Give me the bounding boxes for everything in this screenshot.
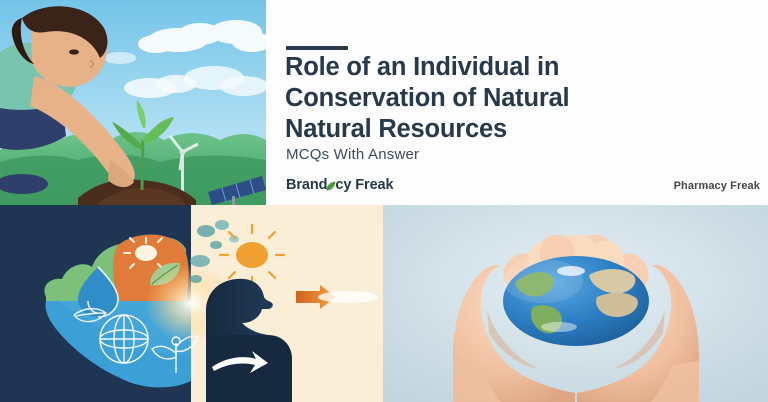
page-subtitle: MCQs With Answer: [286, 146, 419, 163]
cloud-band-bottom: [541, 322, 577, 332]
earth-globe: [503, 256, 649, 346]
accent-rule: [286, 46, 348, 50]
person-planting-sapling-illustration: [0, 0, 266, 205]
globe-icon: [100, 315, 148, 363]
person-eye: [69, 49, 79, 54]
poster-root: Role of an Individual in Conservation of…: [0, 0, 768, 402]
page-title: Role of an Individual in Conservation of…: [285, 52, 755, 145]
hands-canvas: [383, 205, 768, 402]
bottom-row: [0, 205, 768, 402]
globe-specular: [503, 259, 583, 303]
title-block: Role of an Individual in Conservation of…: [266, 0, 768, 205]
hands-holding-earth-photo: [383, 205, 768, 402]
illustration-canvas: [0, 0, 266, 205]
flare: [318, 291, 378, 303]
brand-logo: Brand cy Freak: [286, 177, 393, 193]
infographic-canvas: [0, 205, 383, 402]
title-line-3: Natural Resources: [285, 114, 755, 145]
top-row: Role of an Individual in Conservation of…: [0, 0, 768, 205]
watermark-label: Pharmacy Freak: [674, 180, 760, 192]
title-line-1: Role of an Individual in: [285, 52, 755, 83]
title-line-2: Conservation of Natural: [285, 83, 755, 114]
sustainability-split-infographic: [0, 205, 383, 402]
leaf-icon: [324, 180, 337, 193]
brand-logo-suffix: cy Freak: [335, 177, 393, 193]
brand-logo-prefix: Brand: [286, 177, 327, 193]
